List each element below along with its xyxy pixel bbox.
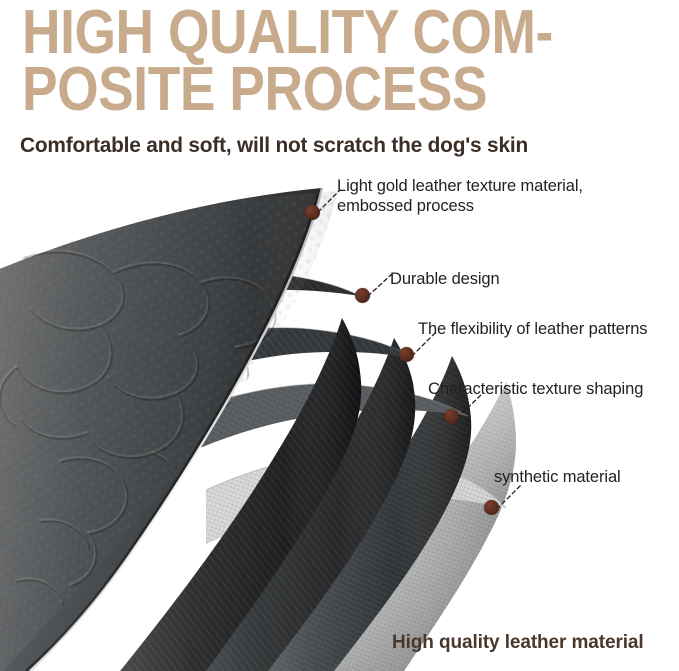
callout-label-durable: Durable design (390, 269, 500, 289)
callout-dot-4[interactable] (444, 409, 459, 424)
callout-dot-5[interactable] (484, 500, 499, 515)
page-title: HIGH QUALITY COM- POSITE PROCESS (22, 4, 572, 118)
callout-label-flexibility: The flexibility of leather patterns (418, 319, 647, 339)
callout-label-texture: Characteristic texture shaping (428, 379, 643, 399)
callout-dot-2[interactable] (355, 288, 370, 303)
callout-dot-1[interactable] (305, 205, 320, 220)
page-subtitle: Comfortable and soft, will not scratch t… (20, 133, 641, 158)
callout-label-embossed: Light gold leather texture material, emb… (337, 176, 583, 216)
leather-layers-svg (0, 160, 679, 671)
infographic-page: HIGH QUALITY COM- POSITE PROCESS Comfort… (0, 0, 679, 671)
callout-dot-3[interactable] (399, 347, 414, 362)
footer-caption: High quality leather material (392, 632, 644, 654)
callout-label-synthetic: synthetic material (494, 467, 621, 487)
layered-leather-illustration (0, 160, 679, 671)
